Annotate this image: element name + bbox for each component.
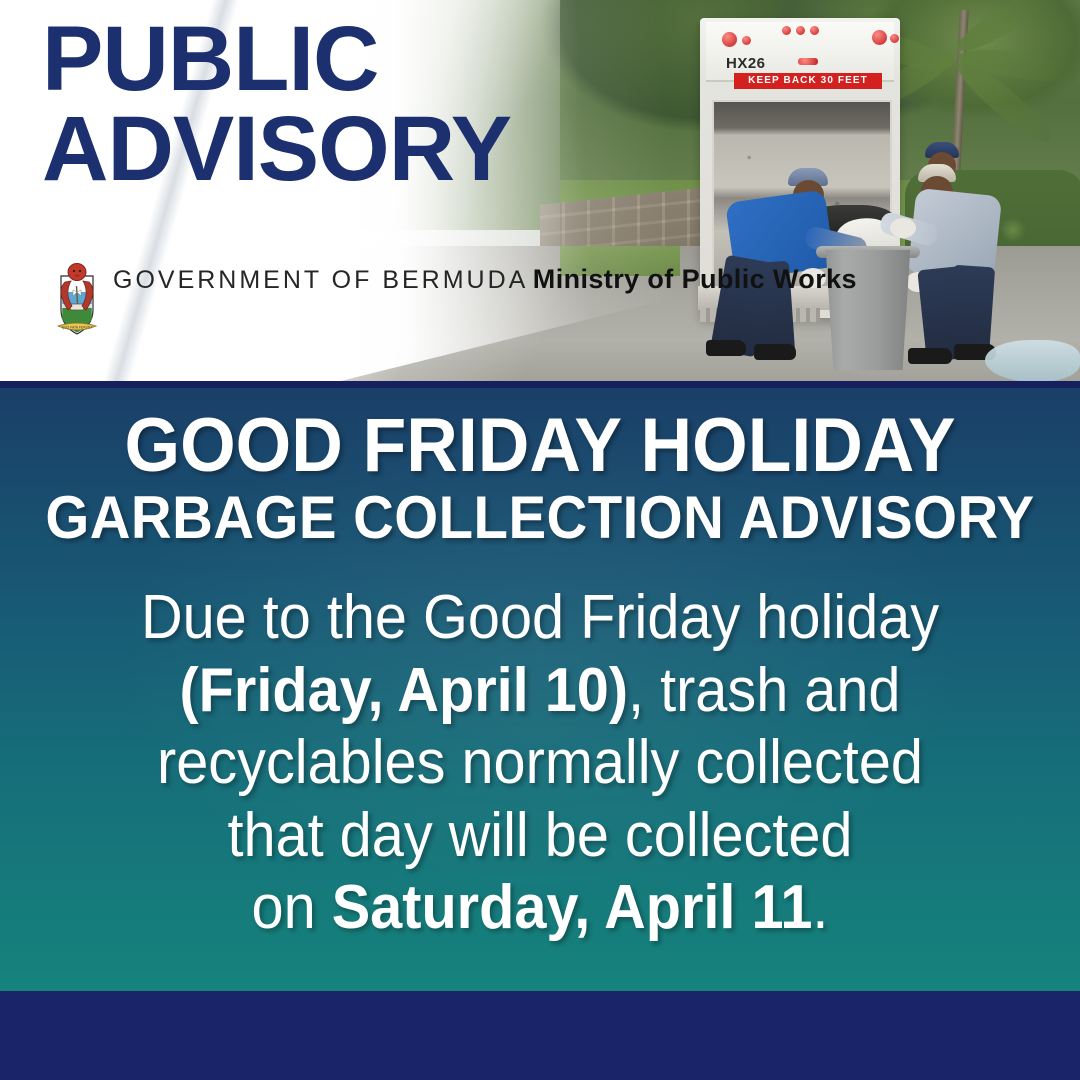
advisory-body-copy: Due to the Good Friday holiday (Friday, … xyxy=(94,582,987,945)
truck-marker-light xyxy=(742,36,751,45)
worker-boot xyxy=(706,340,746,356)
truck-tail-light xyxy=(872,30,887,45)
truck-marker-light xyxy=(810,26,819,35)
footer-bar xyxy=(0,991,1080,1080)
worker-boot xyxy=(908,348,952,364)
body-line-5-suffix: . xyxy=(812,873,828,942)
advisory-headline: PUBLIC ADVISORY xyxy=(42,14,511,194)
worker-boot xyxy=(754,344,796,360)
worker-glove xyxy=(890,218,916,238)
svg-text:QVO FATA FERVNT: QVO FATA FERVNT xyxy=(62,325,93,329)
truck-marker-light xyxy=(796,26,805,35)
body-line-2: (Friday, April 10), trash and xyxy=(94,655,987,728)
truck-marker-light xyxy=(782,26,791,35)
truck-center-light xyxy=(798,58,818,65)
advisory-title-line1: GOOD FRIDAY HOLIDAY xyxy=(32,408,1047,484)
body-line-5-prefix: on xyxy=(252,873,332,942)
government-logo-text: GOVERNMENT OF BERMUDA Ministry of Public… xyxy=(113,262,857,295)
blue-recycling-bag xyxy=(985,340,1080,381)
body-line-5: on Saturday, April 11. xyxy=(94,872,987,945)
advisory-headline-line1: PUBLIC xyxy=(42,14,511,104)
body-line-4: that day will be collected xyxy=(94,800,987,873)
truck-warning-label: KEEP BACK 30 FEET xyxy=(734,73,882,89)
advisory-title-line2: GARBAGE COLLECTION ADVISORY xyxy=(32,488,1047,548)
truck-marker-light xyxy=(890,34,899,43)
truck-unit-id: HX26 xyxy=(726,56,766,71)
body-line-2-rest: , trash and xyxy=(628,656,900,725)
advisory-headline-line2: ADVISORY xyxy=(42,104,511,194)
government-logo-lockup: QVO FATA FERVNT GOVERNMENT OF BERMUDA Mi… xyxy=(55,262,857,338)
ministry-label: Ministry of Public Works xyxy=(533,264,857,294)
body-line-1: Due to the Good Friday holiday xyxy=(94,582,987,655)
government-of-bermuda-label: GOVERNMENT OF BERMUDA xyxy=(113,266,528,294)
bermuda-coat-of-arms-icon: QVO FATA FERVNT xyxy=(55,262,99,338)
header-divider-strip xyxy=(0,381,1080,388)
header-photo-banner: HX26 KEEP BACK 30 FEET xyxy=(0,0,1080,381)
public-advisory-poster: HX26 KEEP BACK 30 FEET xyxy=(0,0,1080,1080)
truck-tail-light xyxy=(722,32,737,47)
advisory-body-panel: GOOD FRIDAY HOLIDAY GARBAGE COLLECTION A… xyxy=(0,388,1080,991)
body-line-2-bold: (Friday, April 10) xyxy=(179,656,628,725)
body-line-5-bold: Saturday, April 11 xyxy=(332,873,813,942)
body-line-3: recyclables normally collected xyxy=(94,727,987,800)
